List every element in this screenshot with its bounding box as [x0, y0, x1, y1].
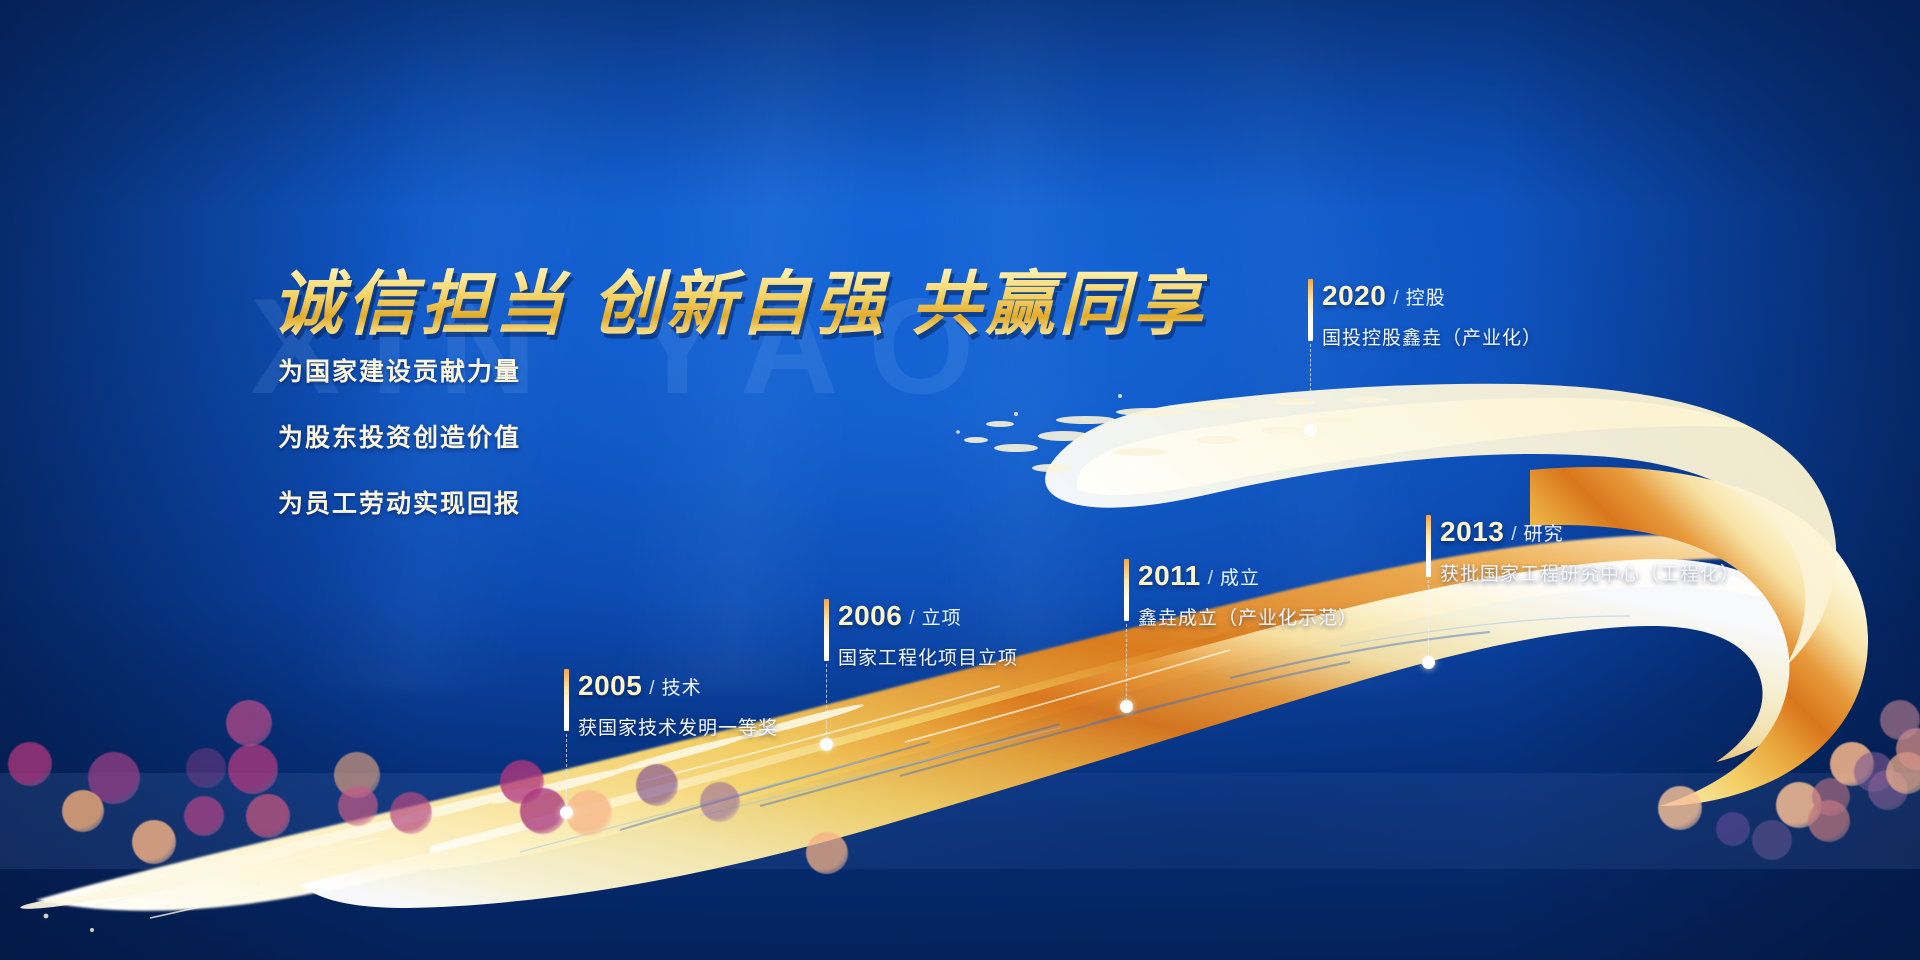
timeline-year: 2011	[1138, 562, 1201, 590]
bokeh-circle	[700, 782, 740, 822]
timeline-year: 2020	[1322, 282, 1386, 310]
banner-stage: XIN YAO	[0, 0, 1920, 960]
bokeh-circle	[228, 744, 278, 794]
hero-subline: 为员工劳动实现回报	[278, 484, 521, 520]
bokeh-circle	[338, 786, 378, 826]
timeline-tag: 控股	[1406, 288, 1446, 310]
timeline-marker-dot[interactable]	[820, 738, 833, 751]
hero-subline-list: 为国家建设贡献力量 为股东投资创造价值 为员工劳动实现回报	[278, 352, 521, 520]
timeline-connector-line	[1428, 580, 1429, 662]
timeline-heading: 2011/成立	[1138, 562, 1358, 590]
bokeh-circle	[1808, 800, 1850, 842]
timeline-heading: 2005/技术	[578, 672, 778, 700]
timeline-item-2005[interactable]: 2005/技术获国家技术发明一等奖	[578, 672, 778, 740]
timeline-separator: /	[909, 608, 914, 630]
timeline-tag: 研究	[1524, 524, 1564, 546]
bokeh-circle	[62, 790, 104, 832]
timeline-connector-line	[1310, 344, 1311, 430]
timeline-item-2011[interactable]: 2011/成立鑫垚成立（产业化示范）	[1138, 562, 1358, 630]
timeline-marker-dot[interactable]	[1304, 424, 1317, 437]
timeline-description: 国家工程化项目立项	[838, 643, 1018, 670]
bokeh-circle	[806, 832, 848, 874]
timeline-description: 国投控股鑫垚（产业化）	[1322, 323, 1542, 350]
bokeh-circle	[184, 796, 224, 836]
timeline-connector-line	[566, 734, 567, 812]
hero-subline: 为国家建设贡献力量	[278, 352, 521, 388]
bokeh-circle	[1752, 820, 1792, 860]
timeline-item-2006[interactable]: 2006/立项国家工程化项目立项	[838, 602, 1018, 670]
timeline-accent-bar	[1426, 515, 1431, 577]
timeline-connector-line	[1126, 624, 1127, 706]
timeline-marker-dot[interactable]	[1120, 700, 1133, 713]
timeline-accent-bar	[564, 669, 569, 731]
timeline-heading: 2006/立项	[838, 602, 1018, 630]
timeline-heading: 2013/研究	[1440, 518, 1740, 546]
timeline-separator: /	[649, 678, 654, 700]
bokeh-circle	[8, 742, 52, 786]
timeline-tag: 技术	[662, 678, 702, 700]
bokeh-circle	[186, 748, 226, 788]
bokeh-circle	[226, 700, 272, 746]
page-title: 诚信担当 创新自强 共赢同享	[272, 248, 1207, 349]
bokeh-circle	[1658, 786, 1702, 830]
bokeh-circle	[390, 792, 432, 834]
timeline-separator: /	[1511, 524, 1516, 546]
timeline-accent-bar	[1124, 559, 1129, 621]
bokeh-circle	[636, 764, 678, 806]
timeline-item-2020[interactable]: 2020/控股国投控股鑫垚（产业化）	[1322, 282, 1542, 350]
timeline-accent-bar	[1308, 279, 1313, 341]
timeline-marker-dot[interactable]	[560, 806, 573, 819]
timeline-connector-line	[826, 664, 827, 744]
bokeh-circle	[246, 794, 290, 838]
timeline-separator: /	[1393, 288, 1398, 310]
timeline-item-2013[interactable]: 2013/研究获批国家工程研究中心（工程化）	[1440, 518, 1740, 586]
timeline-year: 2013	[1440, 518, 1504, 546]
timeline-tag: 立项	[922, 608, 962, 630]
bokeh-circle	[132, 820, 176, 864]
timeline-heading: 2020/控股	[1322, 282, 1542, 310]
timeline-description: 获国家技术发明一等奖	[578, 713, 778, 740]
timeline-year: 2006	[838, 602, 902, 630]
timeline-accent-bar	[824, 599, 829, 661]
timeline-year: 2005	[578, 672, 642, 700]
bokeh-circle	[1716, 812, 1750, 846]
timeline-description: 鑫垚成立（产业化示范）	[1138, 603, 1358, 630]
hero-subline: 为股东投资创造价值	[278, 418, 521, 454]
timeline-tag: 成立	[1220, 568, 1260, 590]
bokeh-circle	[1880, 700, 1920, 740]
timeline-marker-dot[interactable]	[1422, 656, 1435, 669]
timeline-description: 获批国家工程研究中心（工程化）	[1440, 559, 1740, 586]
timeline-separator: /	[1208, 568, 1213, 590]
